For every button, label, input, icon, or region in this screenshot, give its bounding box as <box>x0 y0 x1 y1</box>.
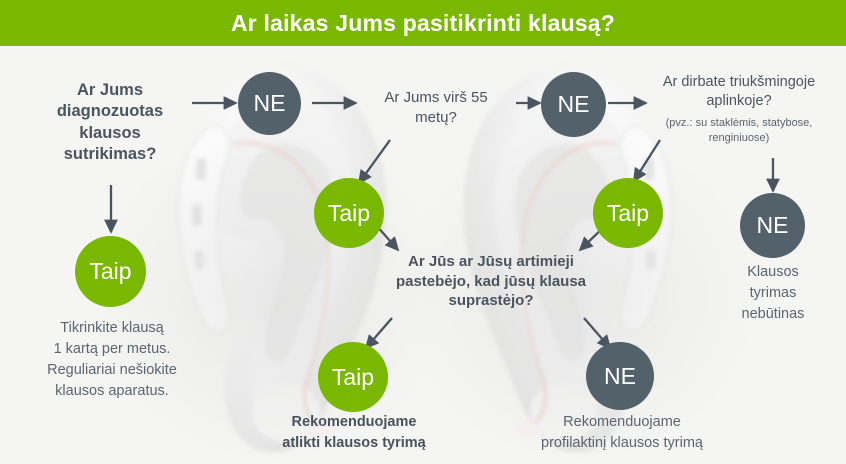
outcome-far-right: Klausos tyrimas nebūtinas <box>706 262 840 325</box>
outcome-left-line-3: Reguliariai nešiokite <box>14 360 210 381</box>
outcome-right-line-1: Rekomenduojame <box>513 412 731 433</box>
node-ne-1[interactable]: NE <box>238 72 301 135</box>
outcome-left-line-4: klausos aparatus. <box>14 381 210 402</box>
node-ne-3[interactable]: NE <box>586 342 654 410</box>
question-2: Ar Jums virš 55 metų? <box>356 88 516 127</box>
infographic-canvas: Ar laikas Jums pasitikrinti klausą? <box>0 0 846 464</box>
node-ne-4[interactable]: NE <box>740 193 805 258</box>
node-ne-3-label: NE <box>604 365 636 388</box>
node-ne-1-label: NE <box>254 92 286 115</box>
page-title: Ar laikas Jums pasitikrinti klausą? <box>231 10 615 37</box>
outcome-center-line-1: Rekomenduojame <box>262 412 446 433</box>
question-3-note-line-1: (pvz.: su staklėmis, statybose, <box>633 116 845 131</box>
node-taip-2-label: Taip <box>328 202 370 225</box>
node-taip-2[interactable]: Taip <box>314 178 384 248</box>
node-taip-3-label: Taip <box>607 202 649 225</box>
question-1-line-3: klausos <box>20 123 200 144</box>
question-4: Ar Jūs ar Jūsų artimieji pastebėjo, kad … <box>380 252 602 311</box>
node-ne-4-label: NE <box>757 214 789 237</box>
node-taip-1-label: Taip <box>89 260 131 283</box>
outcome-far-right-line-3: nebūtinas <box>706 304 840 325</box>
outcome-far-right-line-2: tyrimas <box>706 283 840 304</box>
question-3-note: (pvz.: su staklėmis, statybose, renginiu… <box>633 116 845 146</box>
question-4-line-1: Ar Jūs ar Jūsų artimieji <box>380 252 602 272</box>
outcome-left-line-2: 1 kartą per metus. <box>14 339 210 360</box>
outcome-center: Rekomenduojame atlikti klausos tyrimą <box>262 412 446 454</box>
question-1-line-4: sutrikimas? <box>20 144 200 165</box>
question-4-line-2: pastebėjo, kad jūsų klausa <box>380 272 602 292</box>
outcome-center-line-2: atlikti klausos tyrimą <box>262 433 446 454</box>
node-ne-2[interactable]: NE <box>541 72 606 137</box>
outcome-right: Rekomenduojame profilaktinį klausos tyri… <box>513 412 731 454</box>
node-taip-1[interactable]: Taip <box>75 236 146 307</box>
outcome-left: Tikrinkite klausą 1 kartą per metus. Reg… <box>14 318 210 402</box>
node-ne-2-label: NE <box>558 93 590 116</box>
node-taip-3[interactable]: Taip <box>593 178 663 248</box>
question-3-note-line-2: renginiuose) <box>633 131 845 146</box>
outcome-right-line-2: profilaktinį klausos tyrimą <box>513 433 731 454</box>
header-banner: Ar laikas Jums pasitikrinti klausą? <box>0 0 846 46</box>
node-taip-4[interactable]: Taip <box>318 342 388 412</box>
question-1-line-2: diagnozuotas <box>20 101 200 122</box>
outcome-far-right-line-1: Klausos <box>706 262 840 283</box>
question-3-line-1: Ar dirbate triukšmingoje <box>633 73 845 92</box>
question-4-line-3: suprastėjo? <box>380 291 602 311</box>
outcome-left-line-1: Tikrinkite klausą <box>14 318 210 339</box>
question-2-line-1: Ar Jums virš 55 <box>356 88 516 108</box>
question-2-line-2: metų? <box>356 108 516 128</box>
node-taip-4-label: Taip <box>332 366 374 389</box>
question-3-line-2: aplinkoje? <box>633 92 845 111</box>
question-1-line-1: Ar Jums <box>20 80 200 101</box>
question-3: Ar dirbate triukšmingoje aplinkoje? <box>633 73 845 111</box>
question-1: Ar Jums diagnozuotas klausos sutrikimas? <box>20 80 200 166</box>
